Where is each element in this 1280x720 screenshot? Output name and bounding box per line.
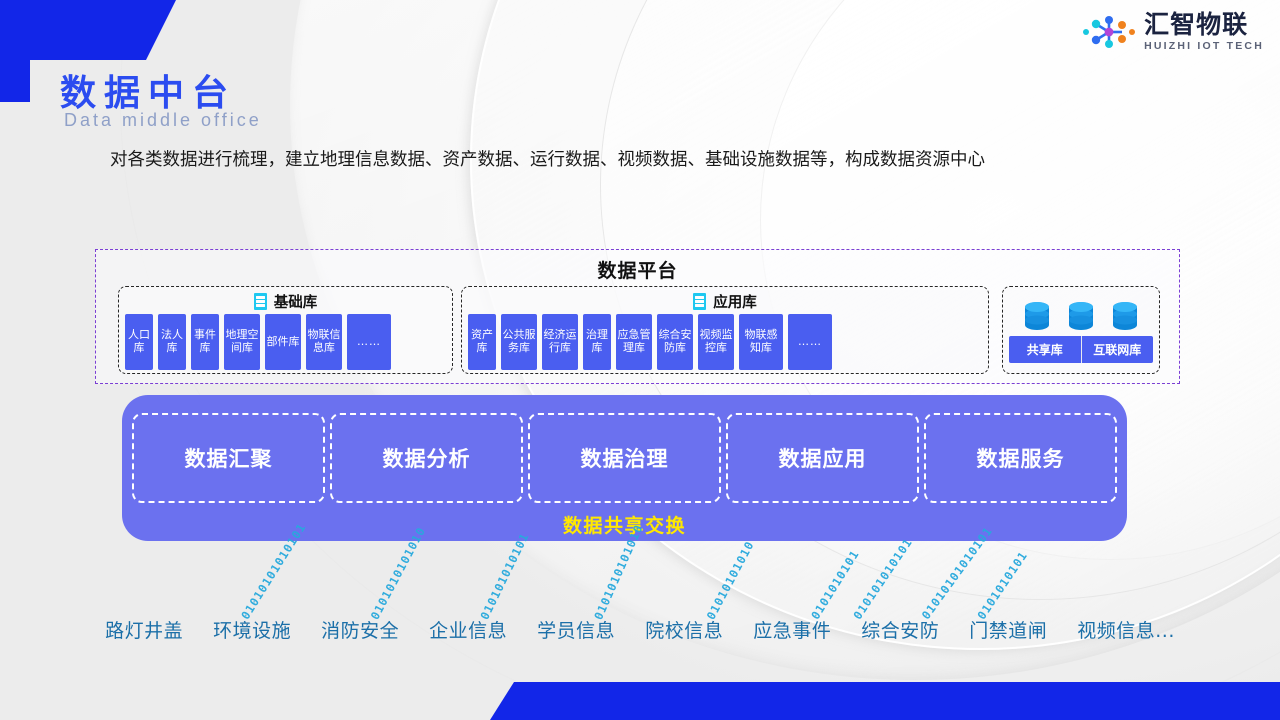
data-source-tag[interactable]: 门禁道闸 xyxy=(969,616,1047,643)
library-chip[interactable]: 综合安防库 xyxy=(657,314,693,370)
binary-stream: 01010101010101 xyxy=(238,521,309,622)
app-library-chip-row: 资产库 公共服务库 经济运行库 治理库 应急管理库 综合安防库 视频监控库 物联… xyxy=(462,314,988,370)
page-description: 对各类数据进行梳理，建立地理信息数据、资产数据、运行数据、视频数据、基础设施数据… xyxy=(110,139,1175,182)
binary-stream: 0101010101010 xyxy=(368,524,429,622)
corner-accent-bottom-right xyxy=(490,682,1280,720)
library-chip[interactable]: 地理空间库 xyxy=(224,314,260,370)
server-rack-icon xyxy=(254,293,267,310)
logo-text-en: HUIZHI IOT TECH xyxy=(1144,40,1264,52)
extra-library-chip[interactable]: 共享库 xyxy=(1009,336,1081,363)
data-source-tag[interactable]: 综合安防 xyxy=(861,616,939,643)
library-chip[interactable]: 法人库 xyxy=(158,314,186,370)
corner-accent-left-bar xyxy=(0,0,30,102)
extra-library-chip[interactable]: 互联网库 xyxy=(1081,336,1154,363)
app-library-header: 应用库 xyxy=(462,289,988,313)
binary-stream: 0101010101010 xyxy=(591,522,646,622)
brand-logo: 汇智物联 HUIZHI IOT TECH xyxy=(1082,12,1264,52)
capability-card[interactable]: 数据服务 xyxy=(924,413,1117,503)
extra-library-labels: 共享库 互联网库 xyxy=(1009,336,1153,363)
library-chip[interactable]: 公共服务库 xyxy=(501,314,537,370)
molecule-icon xyxy=(1082,12,1136,52)
library-chip[interactable]: 事件库 xyxy=(191,314,219,370)
capability-card[interactable]: 数据治理 xyxy=(528,413,721,503)
app-library-label: 应用库 xyxy=(713,291,757,312)
logo-text-cn: 汇智物联 xyxy=(1144,12,1248,38)
app-library-group: 应用库 资产库 公共服务库 经济运行库 治理库 应急管理库 综合安防库 视频监控… xyxy=(461,286,989,374)
basic-library-header: 基础库 xyxy=(119,289,452,313)
binary-stream: 010101010101 xyxy=(850,535,915,622)
data-source-tag[interactable]: 消防安全 xyxy=(321,616,399,643)
data-source-tag[interactable]: 路灯井盖 xyxy=(105,616,183,643)
data-source-tag[interactable]: 环境设施 xyxy=(213,616,291,643)
binary-stream: 01010101010 xyxy=(704,538,757,622)
data-source-tag[interactable]: 视频信息... xyxy=(1077,616,1175,643)
data-source-tag[interactable]: 院校信息 xyxy=(645,616,723,643)
data-source-tag-row: 路灯井盖 环境设施 消防安全 企业信息 学员信息 院校信息 应急事件 综合安防 … xyxy=(0,616,1280,643)
server-rack-icon xyxy=(693,293,706,310)
library-chip[interactable]: 应急管理库 xyxy=(616,314,652,370)
page-title: 数据中台 xyxy=(60,64,236,116)
library-chip-more[interactable]: …… xyxy=(788,314,832,370)
capability-panel: 数据汇聚 数据分析 数据治理 数据应用 数据服务 数据共享交换 xyxy=(122,395,1127,541)
database-icon-row xyxy=(1003,287,1159,333)
data-source-tag[interactable]: 应急事件 xyxy=(753,616,831,643)
library-chip[interactable]: 治理库 xyxy=(583,314,611,370)
library-chip[interactable]: 物联感知库 xyxy=(739,314,783,370)
binary-stream: 010101010101 xyxy=(477,530,531,622)
library-chip[interactable]: 部件库 xyxy=(265,314,301,370)
data-source-tag[interactable]: 学员信息 xyxy=(537,616,615,643)
library-chip[interactable]: 经济运行库 xyxy=(542,314,578,370)
library-chip[interactable]: 视频监控库 xyxy=(698,314,734,370)
database-icon xyxy=(1023,301,1051,333)
data-source-tag[interactable]: 企业信息 xyxy=(429,616,507,643)
library-chip[interactable]: 物联信息库 xyxy=(306,314,342,370)
basic-library-group: 基础库 人口库 法人库 事件库 地理空间库 部件库 物联信息库 …… xyxy=(118,286,453,374)
capability-card-row: 数据汇聚 数据分析 数据治理 数据应用 数据服务 xyxy=(122,395,1127,503)
capability-card[interactable]: 数据汇聚 xyxy=(132,413,325,503)
basic-library-chip-row: 人口库 法人库 事件库 地理空间库 部件库 物联信息库 …… xyxy=(119,314,452,370)
page-subtitle: Data middle office xyxy=(64,110,262,131)
database-icon xyxy=(1067,301,1095,333)
library-chip[interactable]: 人口库 xyxy=(125,314,153,370)
data-platform-container: 数据平台 基础库 人口库 法人库 事件库 地理空间库 部件库 物联信息库 …… … xyxy=(95,249,1180,384)
binary-stream-layer: 01010101010101 0101010101010 01010101010… xyxy=(0,536,1280,616)
capability-card[interactable]: 数据应用 xyxy=(726,413,919,503)
library-chip-more[interactable]: …… xyxy=(347,314,391,370)
data-platform-title: 数据平台 xyxy=(96,256,1179,283)
binary-stream: 0101010101 xyxy=(974,548,1030,622)
database-icon xyxy=(1111,301,1139,333)
basic-library-label: 基础库 xyxy=(274,291,318,312)
library-chip[interactable]: 资产库 xyxy=(468,314,496,370)
capability-card[interactable]: 数据分析 xyxy=(330,413,523,503)
extra-library-group: 共享库 互联网库 xyxy=(1002,286,1160,374)
